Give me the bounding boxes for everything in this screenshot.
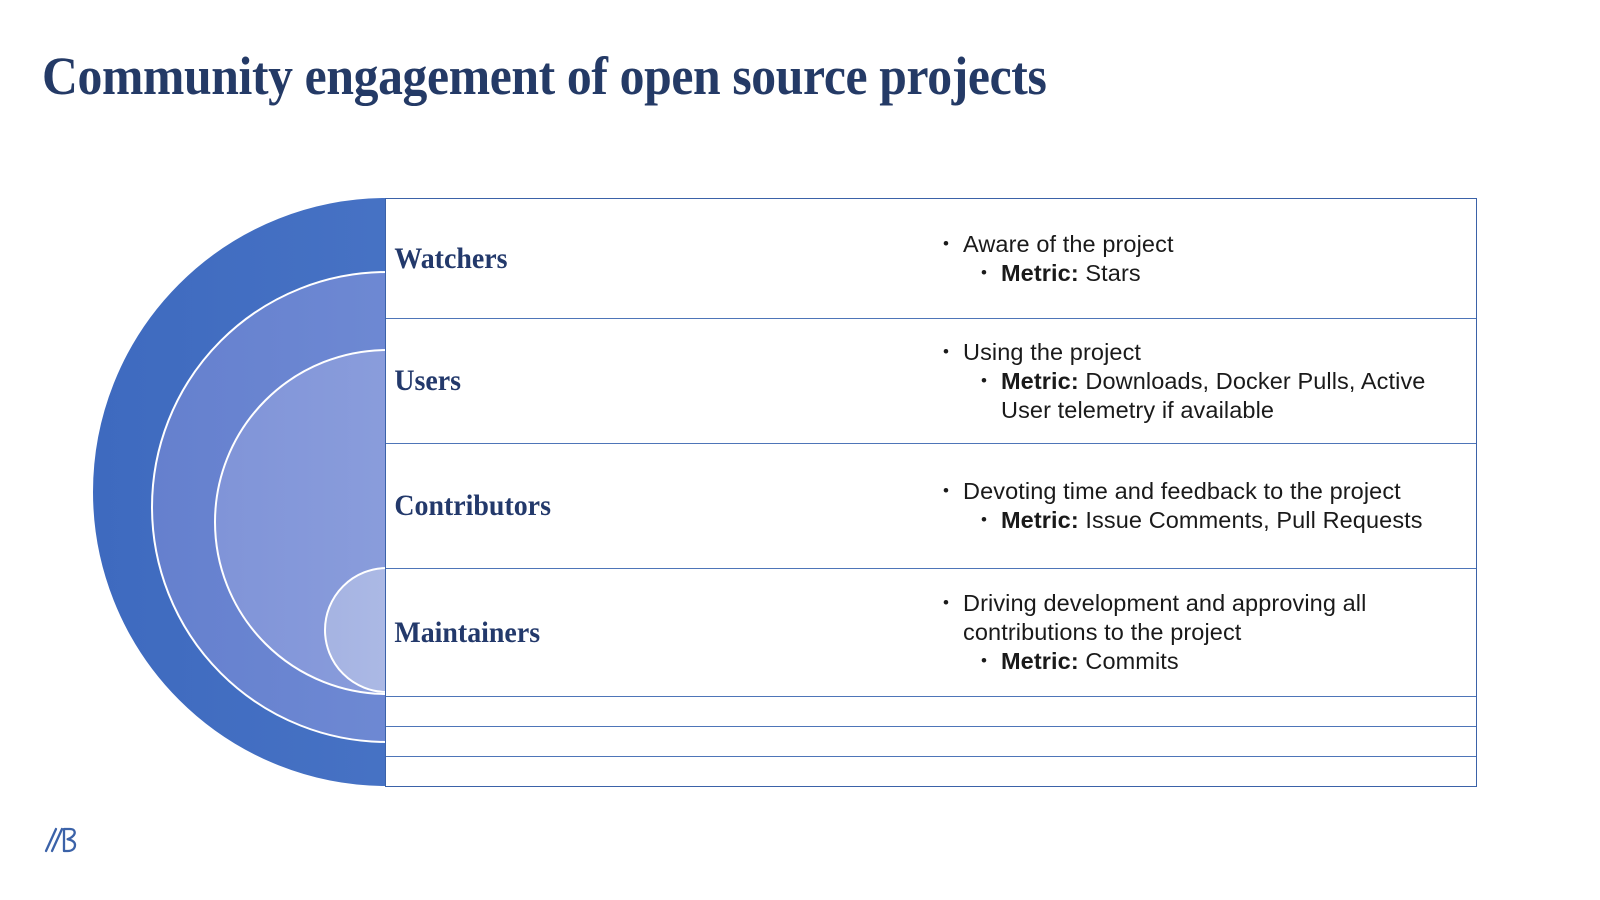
tier-description: Using the project Metric: Downloads, Doc…	[941, 338, 1476, 425]
tier-label: Contributors	[386, 489, 902, 523]
bullet-level-2: Metric: Commits	[979, 647, 1419, 676]
tier-label: Watchers	[386, 242, 902, 276]
table-row[interactable]: Watchers Aware of the project Metric: St…	[386, 199, 1476, 319]
metric-value: Commits	[1085, 648, 1178, 674]
tier-label: Users	[386, 364, 902, 398]
bullet-text: Aware of the project	[963, 231, 1174, 257]
table-row[interactable]: Maintainers Driving development and appr…	[386, 569, 1476, 697]
table-row-empty[interactable]	[386, 727, 1476, 757]
metric-value: Issue Comments, Pull Requests	[1085, 507, 1422, 533]
metric-label: Metric:	[1001, 648, 1079, 674]
bullet-level-2: Metric: Issue Comments, Pull Requests	[979, 506, 1423, 535]
bullet-level-2: Metric: Stars	[979, 259, 1174, 288]
bullet-level-1: Driving development and approving all co…	[941, 589, 1419, 647]
tier-description: Driving development and approving all co…	[941, 589, 1476, 676]
table-row-empty[interactable]	[386, 697, 1476, 727]
table-body: Watchers Aware of the project Metric: St…	[385, 198, 1477, 787]
bullet-text: Devoting time and feedback to the projec…	[963, 478, 1401, 504]
table-row[interactable]: Users Using the project Metric: Download…	[386, 319, 1476, 444]
bullet-level-1: Aware of the project	[941, 230, 1174, 259]
tier-description: Aware of the project Metric: Stars	[941, 230, 1476, 288]
bitergia-logo-icon	[40, 818, 86, 864]
table-row[interactable]: Contributors Devoting time and feedback …	[386, 444, 1476, 569]
bullet-text: Using the project	[963, 339, 1141, 365]
community-tiers-table: Watchers Aware of the project Metric: St…	[385, 198, 1477, 787]
bullet-level-1: Devoting time and feedback to the projec…	[941, 477, 1423, 506]
table-row-empty[interactable]	[386, 757, 1476, 786]
bullet-level-1: Using the project	[941, 338, 1450, 367]
tier-description: Devoting time and feedback to the projec…	[941, 477, 1476, 535]
metric-label: Metric:	[1001, 507, 1079, 533]
tier-label: Maintainers	[386, 616, 902, 650]
bullet-text: Driving development and approving all co…	[963, 590, 1366, 645]
bullet-level-2: Metric: Downloads, Docker Pulls, Active …	[979, 367, 1450, 425]
metric-label: Metric:	[1001, 368, 1079, 394]
page-title: Community engagement of open source proj…	[42, 44, 1238, 108]
metric-value: Stars	[1085, 260, 1140, 286]
slide: Community engagement of open source proj…	[0, 0, 1600, 900]
metric-label: Metric:	[1001, 260, 1079, 286]
